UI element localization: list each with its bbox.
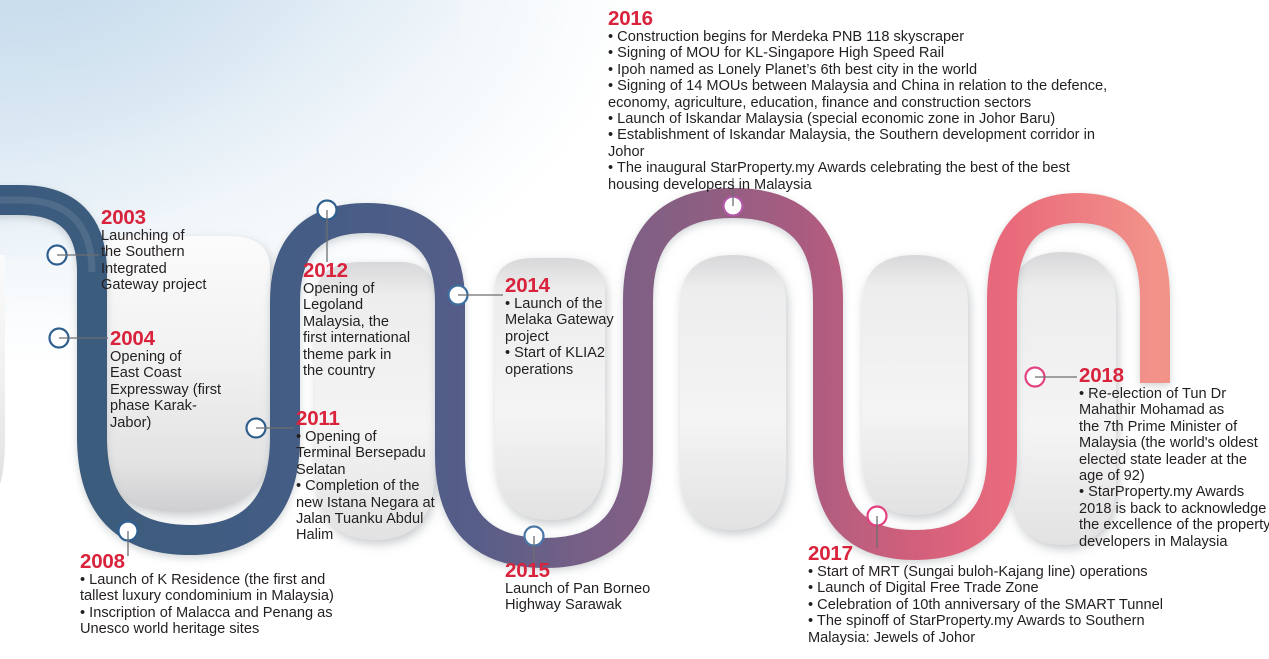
marker-2012[interactable]	[318, 201, 337, 220]
year-label-2003: 2003	[101, 207, 241, 228]
entry-2015: 2015 Launch of Pan Borneo Highway Sarawa…	[505, 560, 705, 614]
entry-2017-body: • Start of MRT (Sungai buloh-Kajang line…	[808, 564, 1208, 646]
entry-2003: 2003 Launching of the Southern Integrate…	[101, 207, 241, 294]
entry-2018: 2018 • Re-election of Tun Dr Mahathir Mo…	[1079, 365, 1269, 550]
year-label-2004: 2004	[110, 328, 270, 349]
entry-2003-body: Launching of the Southern Integrated Gat…	[101, 228, 241, 294]
marker-2016[interactable]	[724, 197, 743, 216]
marker-2017[interactable]	[868, 507, 887, 526]
entry-2012-body: Opening of Legoland Malaysia, the first …	[303, 281, 438, 379]
panel-2017	[862, 255, 968, 515]
marker-2015[interactable]	[525, 527, 544, 546]
year-label-2014: 2014	[505, 275, 635, 296]
marker-2018[interactable]	[1026, 368, 1045, 387]
panel-2016	[680, 255, 786, 530]
entry-2011-body: • Opening of Terminal Bersepadu Selatan …	[296, 429, 456, 544]
entry-2012: 2012 Opening of Legoland Malaysia, the f…	[303, 260, 438, 379]
year-label-2012: 2012	[303, 260, 438, 281]
year-label-2008: 2008	[80, 551, 380, 572]
marker-2003[interactable]	[48, 246, 67, 265]
marker-2004[interactable]	[50, 329, 69, 348]
entry-2004-body: Opening of East Coast Expressway (first …	[110, 349, 270, 431]
year-label-2015: 2015	[505, 560, 705, 581]
marker-2008[interactable]	[119, 522, 138, 541]
entry-2008: 2008 • Launch of K Residence (the first …	[80, 551, 380, 638]
entry-2016: 2016 • Construction begins for Merdeka P…	[608, 8, 1148, 193]
entry-2015-body: Launch of Pan Borneo Highway Sarawak	[505, 581, 705, 614]
marker-2014[interactable]	[449, 286, 468, 305]
entry-2004: 2004 Opening of East Coast Expressway (f…	[110, 328, 270, 431]
year-label-2011: 2011	[296, 408, 456, 429]
timeline-infographic: 2003 Launching of the Southern Integrate…	[0, 0, 1269, 659]
entry-2014-body: • Launch of the Melaka Gateway project •…	[505, 296, 635, 378]
entry-2016-body: • Construction begins for Merdeka PNB 11…	[608, 29, 1148, 193]
entry-2017: 2017 • Start of MRT (Sungai buloh-Kajang…	[808, 543, 1208, 646]
entry-2014: 2014 • Launch of the Melaka Gateway proj…	[505, 275, 635, 378]
entry-2011: 2011 • Opening of Terminal Bersepadu Sel…	[296, 408, 456, 544]
year-label-2016: 2016	[608, 8, 1148, 29]
year-label-2017: 2017	[808, 543, 1208, 564]
entry-2018-body: • Re-election of Tun Dr Mahathir Mohamad…	[1079, 386, 1269, 550]
year-label-2018: 2018	[1079, 365, 1269, 386]
entry-2008-body: • Launch of K Residence (the first and t…	[80, 572, 380, 638]
